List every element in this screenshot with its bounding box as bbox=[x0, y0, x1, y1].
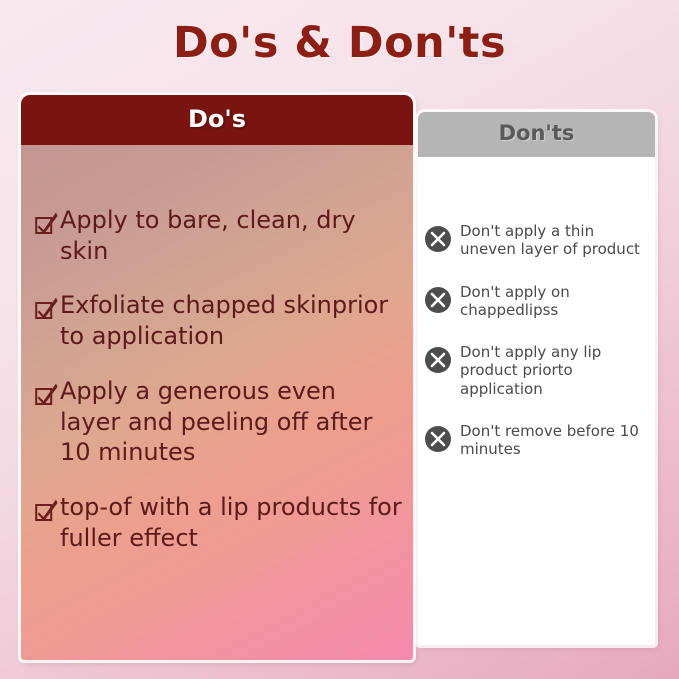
dos-item-label: top-of with a lip products for fuller ef… bbox=[60, 492, 402, 553]
donts-list: Don't apply a thin uneven layer of produ… bbox=[424, 222, 650, 483]
donts-item-label: Don't apply any lip product priorto appl… bbox=[460, 343, 646, 398]
circle-x-icon bbox=[424, 425, 452, 453]
dos-panel-header: Do's bbox=[21, 95, 413, 145]
list-item: top-of with a lip products for fuller ef… bbox=[35, 492, 403, 553]
checkbox-check-icon bbox=[35, 295, 59, 323]
donts-header-label: Don'ts bbox=[418, 121, 655, 145]
circle-x-icon bbox=[424, 286, 452, 314]
checkbox-check-icon bbox=[35, 381, 59, 409]
circle-x-icon bbox=[424, 346, 452, 374]
list-item: Apply a generous even layer and peeling … bbox=[35, 376, 403, 468]
circle-x-icon bbox=[424, 225, 452, 253]
list-item: Don't apply on chappedlipss bbox=[424, 283, 650, 320]
list-item: Don't apply a thin uneven layer of produ… bbox=[424, 222, 650, 259]
checkbox-check-icon bbox=[35, 210, 59, 238]
dos-list: Apply to bare, clean, dry skin Exfoliate… bbox=[35, 205, 403, 577]
dos-panel-body: Apply to bare, clean, dry skin Exfoliate… bbox=[21, 145, 413, 660]
donts-panel-body: Don't apply a thin uneven layer of produ… bbox=[418, 157, 655, 645]
dos-panel: Do's Apply to bare, clean, dry skin bbox=[21, 95, 413, 660]
dos-item-label: Exfoliate chapped skinprior to applicati… bbox=[60, 290, 402, 351]
list-item: Don't remove before 10 minutes bbox=[424, 422, 650, 459]
donts-panel-header: Don'ts bbox=[418, 112, 655, 157]
page-title: Do's & Don'ts bbox=[0, 18, 679, 68]
list-item: Exfoliate chapped skinprior to applicati… bbox=[35, 290, 403, 351]
dos-item-label: Apply a generous even layer and peeling … bbox=[60, 376, 402, 468]
donts-item-label: Don't apply a thin uneven layer of produ… bbox=[460, 222, 646, 259]
donts-item-label: Don't remove before 10 minutes bbox=[460, 422, 646, 459]
dos-header-label: Do's bbox=[21, 105, 413, 133]
list-item: Apply to bare, clean, dry skin bbox=[35, 205, 403, 266]
list-item: Don't apply any lip product priorto appl… bbox=[424, 343, 650, 398]
dos-item-label: Apply to bare, clean, dry skin bbox=[60, 205, 402, 266]
checkbox-check-icon bbox=[35, 497, 59, 525]
donts-panel: Don'ts Don't apply a thin uneven layer o… bbox=[418, 112, 655, 645]
donts-item-label: Don't apply on chappedlipss bbox=[460, 283, 646, 320]
